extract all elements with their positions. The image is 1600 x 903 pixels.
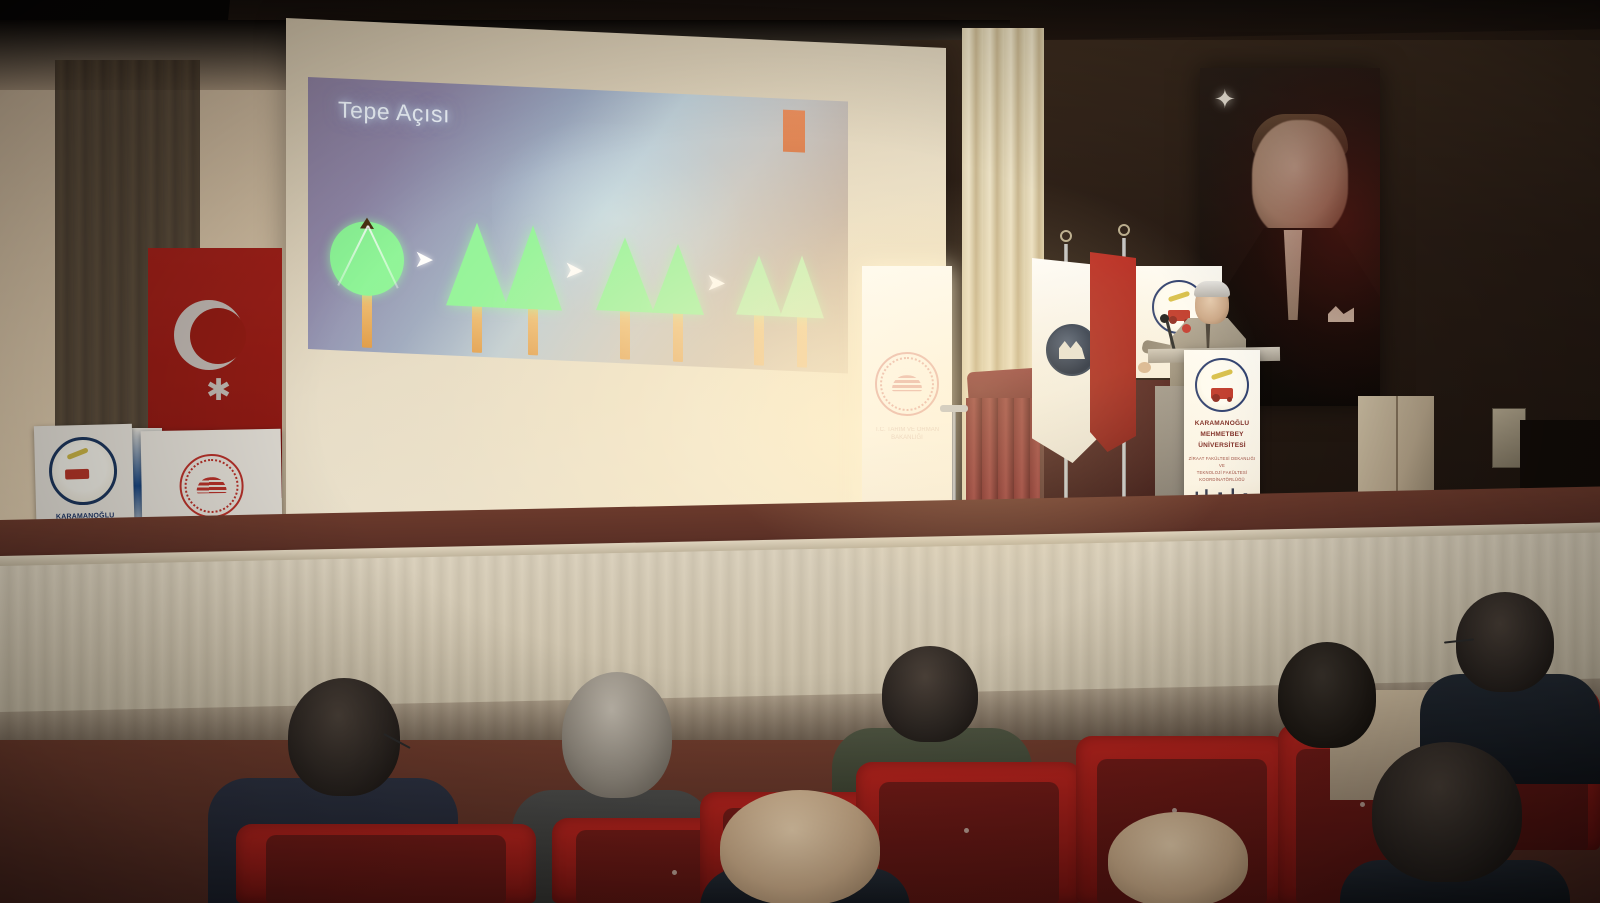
tree-stage-4a bbox=[736, 194, 782, 366]
seat-cushion bbox=[879, 782, 1060, 903]
tree-trunk bbox=[673, 310, 683, 362]
seat-stud bbox=[672, 870, 677, 875]
podium-banner-sub4: KOORDİNATÖRLÜĞÜ bbox=[1184, 477, 1260, 482]
sequence-arrow-2: ➤ bbox=[564, 259, 584, 284]
presentation-slide: Tepe Açısı ➤ bbox=[308, 77, 848, 374]
sequence-arrow-1: ➤ bbox=[414, 248, 434, 273]
tractor-icon bbox=[65, 469, 89, 480]
auditorium-scene: Tepe Açısı ➤ bbox=[0, 0, 1600, 903]
tree-crown-circle bbox=[330, 220, 404, 297]
tractor-icon bbox=[1168, 310, 1190, 321]
ministry-emblem-icon bbox=[875, 352, 939, 416]
tree-crown-triangle bbox=[652, 243, 704, 315]
tree-stage-4b bbox=[780, 196, 824, 368]
flagpole-finial bbox=[1118, 224, 1130, 236]
audience-member-head bbox=[720, 790, 880, 903]
podium-banner-sub1: ZİRAAT FAKÜLTESİ DEKANLIĞI bbox=[1184, 456, 1260, 461]
tree-stage-2b bbox=[504, 184, 562, 357]
rollup-banner-center: T.C. TARIM VE ORMAN BAKANLIĞI bbox=[862, 266, 952, 528]
tree-trunk bbox=[472, 302, 482, 352]
podium-banner-sub3: TEKNOLOJİ FAKÜLTESİ bbox=[1184, 470, 1260, 475]
tree-trunk bbox=[528, 305, 538, 355]
tree-stage-1 bbox=[330, 176, 404, 349]
microphone-head-icon bbox=[1160, 314, 1169, 323]
tree-stage-3a bbox=[596, 188, 654, 361]
tree-crown-triangle bbox=[504, 224, 562, 311]
tree-trunk bbox=[362, 289, 372, 347]
wheat-icon bbox=[1211, 369, 1233, 381]
audience-member-head bbox=[562, 672, 672, 798]
angle-line-left bbox=[337, 225, 369, 286]
tree-crown-triangle bbox=[596, 236, 654, 313]
theater-seat[interactable] bbox=[236, 824, 536, 903]
tractor-icon bbox=[1211, 388, 1233, 399]
microphone-stand-base bbox=[940, 405, 968, 412]
seat-cushion bbox=[266, 835, 506, 903]
audience-member-head bbox=[1456, 592, 1554, 692]
slide-accent-box bbox=[783, 110, 805, 153]
ministry-emblem-icon bbox=[179, 453, 244, 518]
wheat-icon bbox=[1168, 291, 1190, 303]
speaker-hand bbox=[1138, 362, 1151, 373]
audience-member-head bbox=[1372, 742, 1522, 882]
slide-title: Tepe Açısı bbox=[338, 96, 450, 128]
flag-star-icon: ✱ bbox=[206, 376, 231, 406]
seat-stud bbox=[1360, 802, 1365, 807]
podium-banner-line3: ÜNİVERSİTESİ bbox=[1184, 442, 1260, 450]
flagpole-finial bbox=[1060, 230, 1072, 242]
audience-member-head bbox=[882, 646, 978, 742]
audience-member-head bbox=[1108, 812, 1248, 903]
tree-trunk bbox=[754, 311, 764, 365]
tree-trunk bbox=[620, 307, 630, 359]
speaker-hair bbox=[1194, 281, 1230, 297]
podium-banner-line1: KARAMANOĞLU bbox=[1184, 420, 1260, 428]
audience-member-head bbox=[1278, 642, 1376, 748]
tree-sequence-diagram: ➤ ➤ bbox=[308, 155, 848, 370]
tree-crown-triangle bbox=[446, 221, 508, 308]
sequence-arrow-3: ➤ bbox=[706, 271, 726, 296]
tree-stage-2a bbox=[446, 181, 508, 354]
rollup-caption: T.C. TARIM VE ORMAN BAKANLIĞI bbox=[862, 426, 952, 443]
podium-banner-line2: MEHMETBEY bbox=[1184, 431, 1260, 439]
tree-stage-3b bbox=[652, 191, 704, 363]
angle-line-right bbox=[367, 225, 399, 288]
seat-stud bbox=[964, 828, 969, 833]
tree-crown-triangle bbox=[780, 254, 824, 318]
podium-emblem-icon bbox=[1195, 358, 1249, 412]
crescent-inner bbox=[190, 308, 246, 364]
tree-trunk bbox=[797, 313, 807, 367]
audience-member-head bbox=[288, 678, 400, 796]
tree-crown-triangle bbox=[736, 254, 782, 316]
turkish-flag-pole-mounted bbox=[1090, 252, 1136, 452]
speaker-lapel-pin bbox=[1182, 324, 1191, 333]
podium-banner-sub2: VE bbox=[1184, 463, 1260, 468]
